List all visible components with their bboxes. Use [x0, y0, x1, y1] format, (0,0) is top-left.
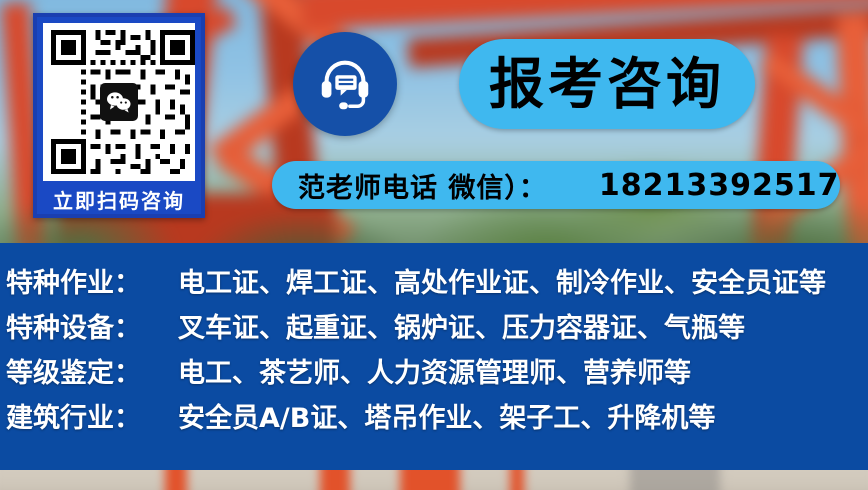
sliver-shadow — [630, 470, 720, 490]
category-label: 特种设备： — [6, 306, 164, 345]
category-label: 建筑行业： — [6, 396, 164, 435]
promo-poster: 立即扫码咨询 报考咨询 范老师电话 微信）： 18213392517 特种作业：… — [0, 0, 868, 490]
category-label: 特种作业： — [6, 261, 164, 300]
qr-caption: 立即扫码咨询 — [43, 181, 195, 221]
category-items: 叉车证、起重证、锅炉证、压力容器证、气瓶等 — [178, 306, 745, 345]
bottom-photo-sliver — [0, 470, 868, 490]
category-row: 等级鉴定： 电工、茶艺师、人力资源管理师、营养师等 — [0, 351, 868, 396]
category-items: 电工、茶艺师、人力资源管理师、营养师等 — [178, 351, 691, 390]
qr-code-card[interactable]: 立即扫码咨询 — [33, 13, 205, 218]
category-row: 建筑行业： 安全员A/B证、塔吊作业、架子工、升降机等 — [0, 396, 868, 441]
bottom-photo — [0, 470, 868, 490]
qr-code-surface — [43, 23, 195, 181]
title-pill: 报考咨询 — [459, 39, 755, 129]
course-categories-panel: 特种作业： 电工证、焊工证、高处作业证、制冷作业、安全员证等 特种设备： 叉车证… — [0, 243, 868, 470]
wechat-icon — [100, 83, 138, 121]
contact-phone-pill[interactable]: 范老师电话 微信）： 18213392517 — [272, 161, 840, 209]
sliver-beam — [320, 470, 350, 490]
category-items: 电工证、焊工证、高处作业证、制冷作业、安全员证等 — [178, 261, 826, 300]
category-items: 安全员A/B证、塔吊作业、架子工、升降机等 — [178, 396, 715, 435]
contact-label: 范老师电话 微信）： — [298, 166, 547, 205]
category-row: 特种作业： 电工证、焊工证、高处作业证、制冷作业、安全员证等 — [0, 261, 868, 306]
category-label: 等级鉴定： — [6, 351, 164, 390]
headset-support-icon — [293, 32, 397, 136]
sliver-beam — [165, 470, 187, 490]
category-row: 特种设备： 叉车证、起重证、锅炉证、压力容器证、气瓶等 — [0, 306, 868, 351]
sliver-beam — [400, 470, 460, 490]
sliver-beam — [510, 470, 524, 490]
phone-number[interactable]: 18213392517 — [599, 168, 840, 203]
title-text: 报考咨询 — [489, 57, 725, 112]
